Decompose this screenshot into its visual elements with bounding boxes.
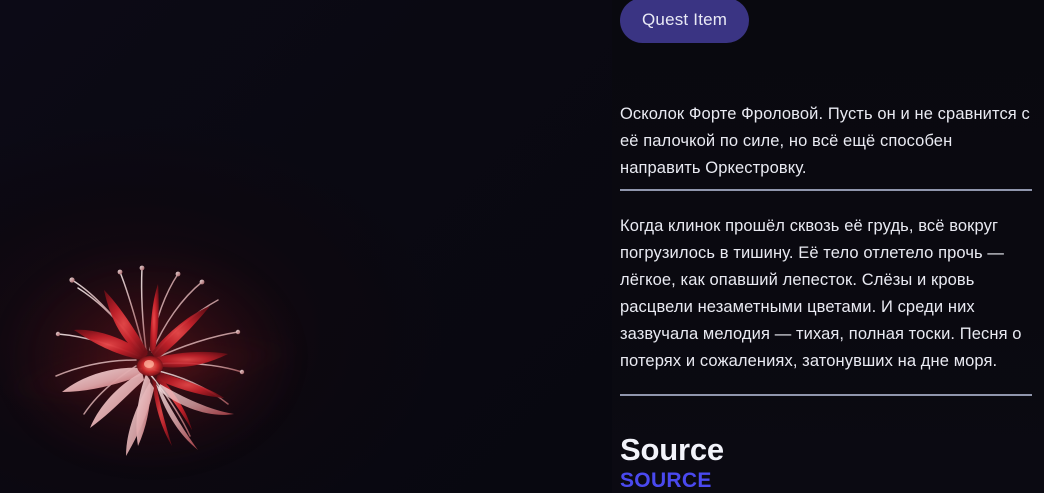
quest-item-badge[interactable]: Quest Item — [620, 0, 749, 43]
item-lore-text: Когда клинок прошёл сквозь её грудь, всё… — [620, 213, 1032, 375]
badge-row: Quest Item — [620, 0, 749, 43]
artwork-stage — [0, 232, 300, 482]
source-heading: Source — [620, 432, 1032, 468]
item-detail-page: Quest Item Осколок Форте Фроловой. Пусть… — [0, 0, 1044, 493]
item-description: Осколок Форте Фроловой. Пусть он и не ср… — [620, 101, 1032, 182]
item-info-panel: Quest Item Осколок Форте Фроловой. Пусть… — [612, 0, 1044, 493]
source-subheading: SOURCE — [620, 468, 1032, 493]
source-section: Source SOURCE — [620, 432, 1032, 493]
divider-bottom — [620, 394, 1032, 396]
red-spider-lily-icon — [0, 232, 300, 482]
divider-top — [620, 189, 1032, 191]
artwork-panel — [0, 0, 612, 493]
